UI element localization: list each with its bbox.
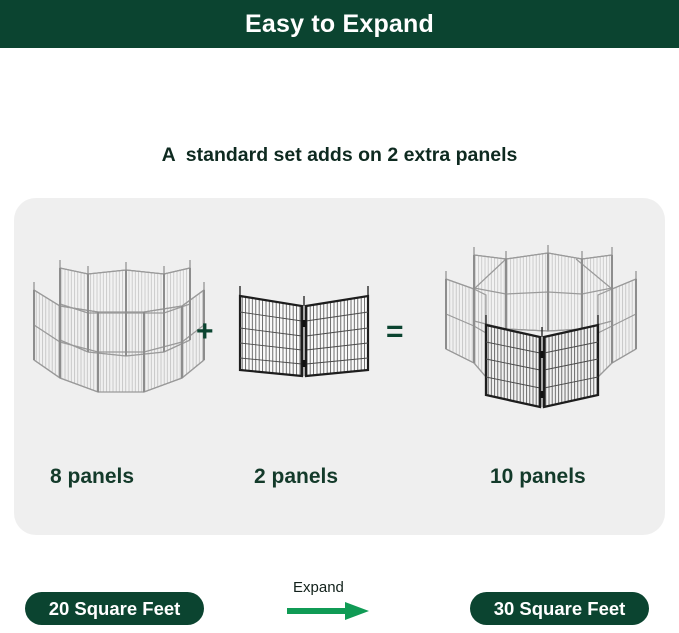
arrow-right-icon xyxy=(285,600,373,622)
plus-operator-icon: + xyxy=(196,317,214,347)
playpen-2-panels-illustration xyxy=(228,280,380,390)
square-feet-badge-right: 30 Square Feet xyxy=(470,592,649,625)
page-title: Easy to Expand xyxy=(245,12,434,37)
panel-count-label-8: 8 panels xyxy=(50,466,134,487)
panel-count-label-2: 2 panels xyxy=(254,466,338,487)
playpen-10-panels-illustration xyxy=(430,225,652,415)
square-feet-badge-right-text: 30 Square Feet xyxy=(494,598,626,620)
equals-operator-icon: = xyxy=(386,317,404,347)
expand-indicator: Expand xyxy=(285,578,395,622)
playpen-8-panels-illustration xyxy=(26,232,208,412)
subtitle-line-1: A standard set adds on 2 extra panels xyxy=(0,142,679,169)
panel-count-label-10: 10 panels xyxy=(490,466,586,487)
square-feet-badge-left-text: 20 Square Feet xyxy=(49,598,181,620)
header-banner: Easy to Expand xyxy=(0,0,679,48)
expand-label: Expand xyxy=(285,578,395,597)
highlighted-added-panels xyxy=(486,315,598,407)
square-feet-badge-left: 20 Square Feet xyxy=(25,592,204,625)
